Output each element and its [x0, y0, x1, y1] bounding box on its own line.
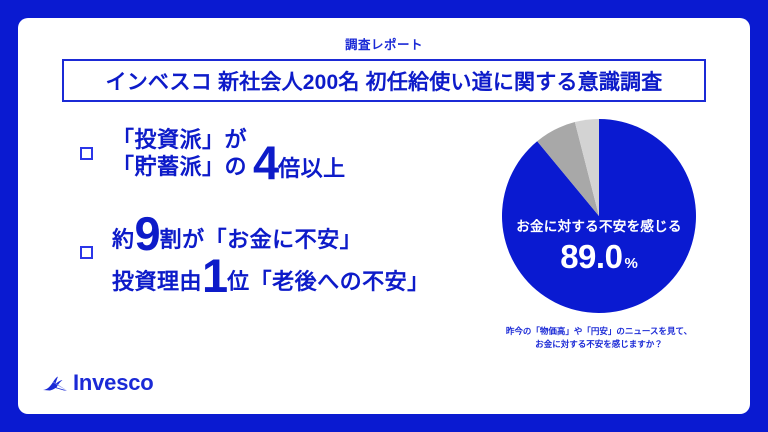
- poster-frame: 調査レポート インベスコ 新社会人200名 初任給使い道に関する意識調査 「投資…: [0, 0, 768, 432]
- finding-2-line2-post: 位「老後への不安」: [227, 268, 430, 295]
- finding-2-line1-big: 9: [135, 214, 160, 253]
- poster-card: 調査レポート インベスコ 新社会人200名 初任給使い道に関する意識調査 「投資…: [18, 18, 750, 414]
- findings-list: 「投資派」が 「貯蓄派」の 4 倍以上 約: [18, 126, 448, 325]
- finding-1-big-number: 4: [253, 143, 278, 182]
- chart-caption-line2: お金に対する不安を感じますか？: [448, 338, 750, 351]
- chart-block: お金に対する不安を感じる 89.0 % 昨今の「物価高」や「円安」のニュースを見…: [448, 118, 750, 351]
- finding-item-1: 「投資派」が 「貯蓄派」の 4 倍以上: [18, 126, 448, 181]
- chart-caption: 昨今の「物価高」や「円安」のニュースを見て、 お金に対する不安を感じますか？: [448, 325, 750, 351]
- finding-2-body: 約 9 割が「お金に不安」 投資理由 1 位「老後への不安」: [112, 211, 430, 296]
- chart-caption-line1: 昨今の「物価高」や「円安」のニュースを見て、: [448, 325, 750, 338]
- finding-2-line2-pre: 投資理由: [112, 268, 202, 295]
- pie-chart-svg: [501, 118, 697, 314]
- finding-2-line1-pre: 約: [112, 226, 135, 253]
- title-box: インベスコ 新社会人200名 初任給使い道に関する意識調査: [62, 59, 706, 102]
- finding-2-line1-post: 割が「お金に不安」: [160, 226, 363, 253]
- invesco-logo-text: Invesco: [73, 370, 154, 396]
- invesco-logo: Invesco: [42, 370, 154, 396]
- finding-item-2: 約 9 割が「お金に不安」 投資理由 1 位「老後への不安」: [18, 211, 448, 296]
- finding-2-line2-big: 1: [202, 256, 227, 295]
- invesco-mountain-icon: [42, 375, 68, 392]
- checkbox-square-icon: [80, 147, 93, 160]
- eyebrow-label: 調査レポート: [18, 34, 750, 53]
- checkbox-square-icon: [80, 246, 93, 259]
- page-title: インベスコ 新社会人200名 初任給使い道に関する意識調査: [106, 66, 663, 96]
- finding-1-big-suffix: 倍以上: [278, 155, 346, 182]
- finding-1-body: 「投資派」が 「貯蓄派」の 4 倍以上: [112, 126, 346, 181]
- finding-1-line2: 「貯蓄派」の: [112, 153, 247, 180]
- finding-1-line1: 「投資派」が: [112, 126, 247, 153]
- pie-chart: お金に対する不安を感じる 89.0 %: [501, 118, 697, 314]
